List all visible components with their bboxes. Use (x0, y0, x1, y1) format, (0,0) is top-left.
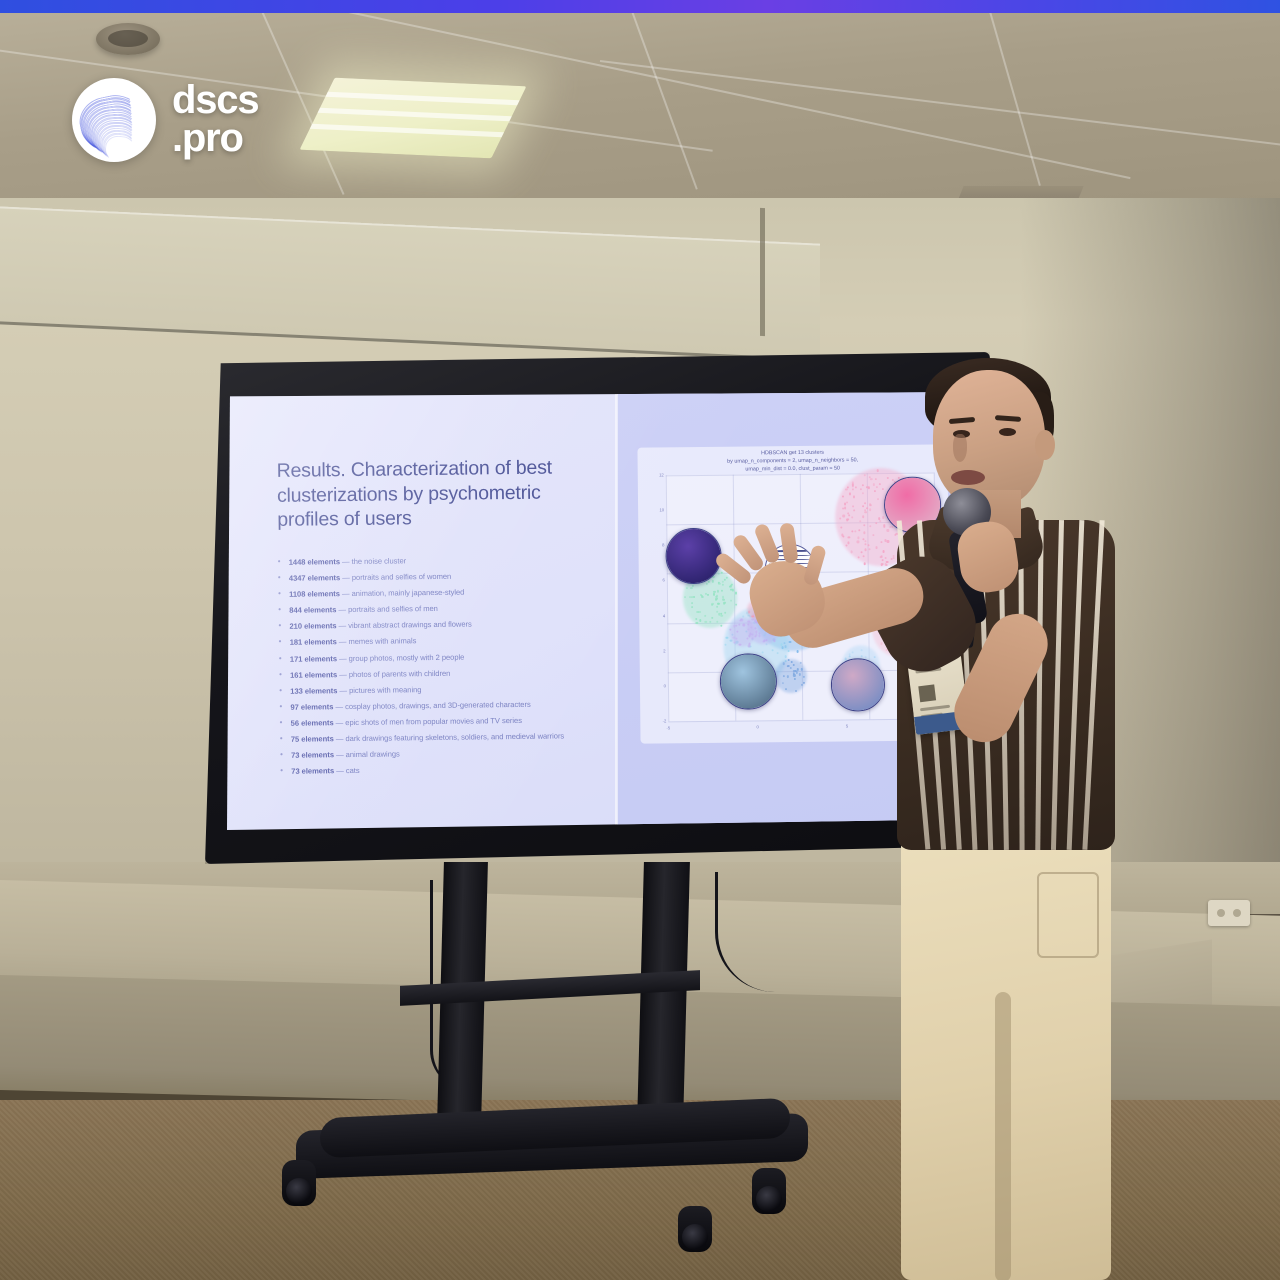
slide-bullet-item: 210 elements — vibrant abstract drawings… (278, 618, 588, 632)
presenter-head (933, 370, 1045, 508)
data-point (771, 649, 773, 651)
y-axis-tick: 12 (653, 472, 664, 477)
slide-bullet-item: 181 elements — memes with animals (279, 635, 589, 649)
data-point (731, 583, 733, 585)
bullet-count: 844 elements (289, 605, 336, 615)
data-point (748, 620, 750, 622)
slide-bullet-item: 97 elements — cosplay photos, drawings, … (279, 699, 589, 713)
data-point (696, 622, 698, 624)
presentation-photo-scene: Results. Characterization of best cluste… (0, 0, 1280, 1280)
presenter-nose (953, 434, 967, 462)
bullet-text: — portraits and selfies of women (340, 572, 451, 582)
data-point (846, 486, 848, 488)
data-point (699, 611, 701, 613)
data-point (717, 590, 719, 592)
bullet-text: — portraits and selfies of men (336, 604, 438, 614)
group-photo-thumb (720, 653, 777, 710)
data-point (722, 596, 724, 598)
data-point (735, 592, 737, 594)
data-point (735, 604, 737, 606)
brand-wordmark: dscs .pro (172, 82, 258, 157)
y-axis-tick: 8 (653, 543, 664, 548)
presenter-ear (1035, 430, 1055, 460)
data-point (851, 516, 853, 518)
data-point (705, 583, 707, 585)
data-point (725, 577, 727, 579)
slide-bullet-item: 1108 elements — animation, mainly japane… (278, 586, 588, 600)
bullet-text: — group photos, mostly with 2 people (337, 652, 464, 663)
slide-bullet-item: 1448 elements — the noise cluster (278, 554, 588, 568)
data-point (722, 598, 724, 600)
bullet-count: 1448 elements (289, 557, 340, 567)
caster-front-right (752, 1168, 786, 1214)
dscs-wave-logo-icon (72, 78, 156, 162)
bullet-count: 210 elements (289, 622, 336, 632)
data-point (742, 624, 744, 626)
data-point (847, 542, 849, 544)
data-point (796, 671, 798, 673)
data-point (748, 635, 750, 637)
data-point (755, 631, 757, 633)
caster-rear (678, 1206, 712, 1252)
brand-gradient-bar (0, 0, 1280, 13)
bullet-text: — photos of parents with children (337, 668, 450, 678)
data-point (721, 580, 723, 582)
data-point (801, 668, 803, 670)
data-point (801, 684, 803, 686)
bullet-count: 73 elements (291, 766, 334, 776)
slide-divider (615, 394, 618, 830)
data-point (721, 624, 723, 626)
x-axis-tick: 5 (840, 723, 854, 728)
data-point (851, 651, 853, 653)
bullet-count: 181 elements (290, 638, 337, 648)
data-point (755, 634, 757, 636)
data-point (693, 596, 695, 598)
bullet-text: — vibrant abstract drawings and flowers (337, 620, 472, 631)
data-point (740, 618, 742, 620)
bullet-text: — cosplay photos, drawings, and 3D-gener… (333, 700, 530, 711)
data-point (691, 602, 693, 604)
bullet-count: 171 elements (290, 654, 337, 664)
bullet-count: 133 elements (290, 686, 337, 696)
data-point (846, 519, 848, 521)
x-axis-tick: 0 (751, 724, 765, 729)
data-point (793, 674, 795, 676)
data-point (794, 678, 796, 680)
data-point (852, 505, 854, 507)
display-brand-logo (550, 844, 602, 853)
data-point (701, 595, 703, 597)
bullet-count: 56 elements (291, 718, 334, 728)
smoke-detector-icon (96, 23, 160, 55)
bullet-text: — epic shots of men from popular movies … (334, 716, 522, 727)
y-axis-tick: 10 (653, 507, 664, 512)
pants-pocket (1037, 872, 1099, 958)
bullet-text: — memes with animals (337, 637, 417, 647)
slide-bullet-item: 171 elements — group photos, mostly with… (279, 651, 589, 665)
slide-bullet-item: 73 elements — cats (280, 763, 590, 777)
bullet-text: — pictures with meaning (337, 685, 421, 695)
data-point (776, 652, 778, 654)
bullet-text: — cats (334, 766, 359, 775)
slide-bullet-item: 4347 elements — portraits and selfies of… (278, 570, 588, 584)
bullet-text: — animation, mainly japanese-styled (340, 588, 465, 599)
bullet-count: 1108 elements (289, 589, 340, 599)
logo-wave-line (104, 135, 136, 162)
shirt-stripe (1051, 520, 1064, 850)
x-axis-tick: -5 (661, 725, 675, 730)
bullet-count: 161 elements (290, 670, 337, 680)
slide-bullet-item: 844 elements — portraits and selfies of … (278, 602, 588, 616)
data-point (695, 618, 697, 620)
bullet-count: 73 elements (291, 750, 334, 760)
slide-bullet-item: 133 elements — pictures with meaning (279, 683, 589, 697)
data-point (844, 507, 846, 509)
bullet-text: — the noise cluster (340, 556, 406, 566)
shirt-stripe (1067, 520, 1085, 850)
data-point (797, 668, 799, 670)
slide-bullet-item: 73 elements — animal drawings (280, 747, 590, 761)
data-point (799, 673, 801, 675)
shirt-stripe (1035, 520, 1043, 850)
data-point (787, 650, 789, 652)
data-point (841, 534, 843, 536)
brand-logo: dscs .pro (72, 78, 258, 162)
bullet-count: 4347 elements (289, 573, 340, 583)
slide-bullet-item: 75 elements — dark drawings featuring sk… (280, 731, 590, 745)
data-point (711, 616, 713, 618)
y-axis-tick: 6 (654, 578, 665, 583)
data-point (787, 675, 789, 677)
data-point (843, 515, 845, 517)
caster-front-left (282, 1160, 316, 1206)
data-point (716, 605, 718, 607)
data-point (750, 626, 752, 628)
y-axis-tick: 0 (655, 683, 666, 688)
slide-bullet-list: 1448 elements — the noise cluster4347 el… (278, 554, 591, 783)
data-point (784, 655, 786, 657)
data-point (739, 643, 741, 645)
data-point (765, 639, 767, 641)
data-point (851, 551, 853, 553)
brand-name-line2: .pro (172, 120, 258, 158)
ceiling-light-panel (300, 78, 527, 159)
data-point (845, 488, 847, 490)
y-axis-tick: -2 (655, 718, 666, 723)
whiteboard-edge (760, 208, 765, 336)
wall-outlet (1208, 900, 1250, 926)
slide-bullet-item: 56 elements — epic shots of men from pop… (280, 715, 590, 729)
data-point (752, 615, 754, 617)
bullet-count: 97 elements (290, 702, 333, 712)
brand-name-line1: dscs (172, 82, 258, 120)
data-point (699, 619, 701, 621)
data-point (795, 690, 797, 692)
presenter-mouth (951, 470, 985, 485)
presenter (855, 352, 1185, 1280)
pants-seam (995, 992, 1011, 1280)
data-point (705, 593, 707, 595)
bullet-count: 75 elements (291, 734, 334, 744)
data-point (773, 640, 775, 642)
data-point (730, 588, 732, 590)
slide-title: Results. Characterization of best cluste… (277, 455, 588, 532)
data-point (733, 637, 735, 639)
data-point (691, 606, 693, 608)
data-point (716, 620, 718, 622)
bullet-text: — animal drawings (334, 750, 400, 760)
purple-anime-thumb (665, 528, 722, 585)
data-point (796, 650, 798, 652)
grid-line (666, 475, 670, 721)
shirt-stripe (1082, 520, 1104, 850)
y-axis-tick: 4 (654, 613, 665, 618)
data-point (748, 645, 750, 647)
y-axis-tick: 2 (655, 648, 666, 653)
bullet-text: — dark drawings featuring skeletons, sol… (334, 731, 564, 743)
power-cable (715, 872, 835, 992)
slide-bullet-item: 161 elements — photos of parents with ch… (279, 667, 589, 681)
data-point (726, 636, 728, 638)
